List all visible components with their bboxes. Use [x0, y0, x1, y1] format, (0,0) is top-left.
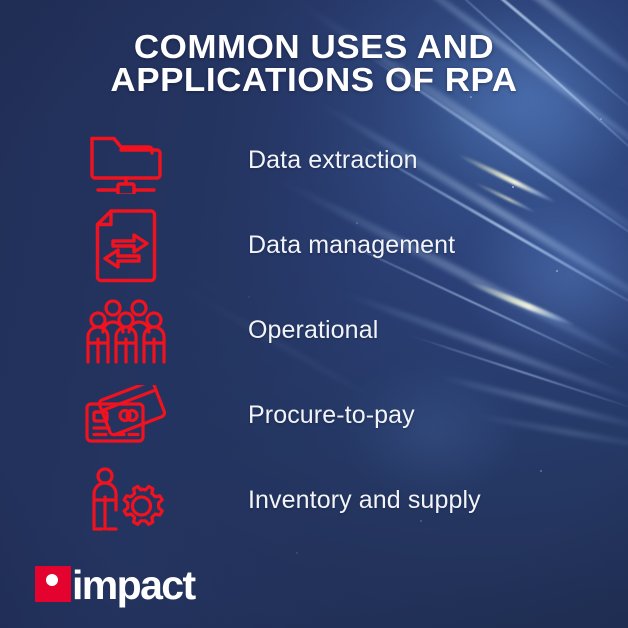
credit-cards-icon [0, 385, 252, 447]
list-item-label: Operational [248, 316, 378, 345]
infographic-canvas: COMMON USES AND APPLICATIONS OF RPA Data… [0, 0, 628, 628]
list-item: Data extraction [0, 118, 628, 203]
list-item-label: Data extraction [248, 146, 418, 175]
list-item-label: Procure-to-pay [248, 401, 415, 430]
logo-wordmark: impact [72, 567, 195, 603]
people-group-icon [0, 298, 252, 364]
list-item-label: Data management [248, 231, 455, 260]
impact-square-dot-mark [35, 566, 71, 602]
list-item: Operational [0, 288, 628, 373]
list-item: Procure-to-pay [0, 373, 628, 458]
list-item: Inventory and supply [0, 458, 628, 543]
page-title: COMMON USES AND APPLICATIONS OF RPA [0, 30, 628, 96]
impact-logo: impact [35, 566, 195, 602]
person-gear-icon [0, 467, 252, 535]
page-title-line-2: APPLICATIONS OF RPA [0, 63, 628, 96]
list-item: Data management [0, 203, 628, 288]
uses-list: Data extraction Data management [0, 118, 628, 543]
folder-network-icon [0, 128, 252, 194]
list-item-label: Inventory and supply [248, 486, 481, 515]
document-exchange-arrows-icon [0, 209, 252, 283]
page-title-line-1: COMMON USES AND [0, 30, 628, 63]
logo-dot-icon [46, 574, 58, 586]
